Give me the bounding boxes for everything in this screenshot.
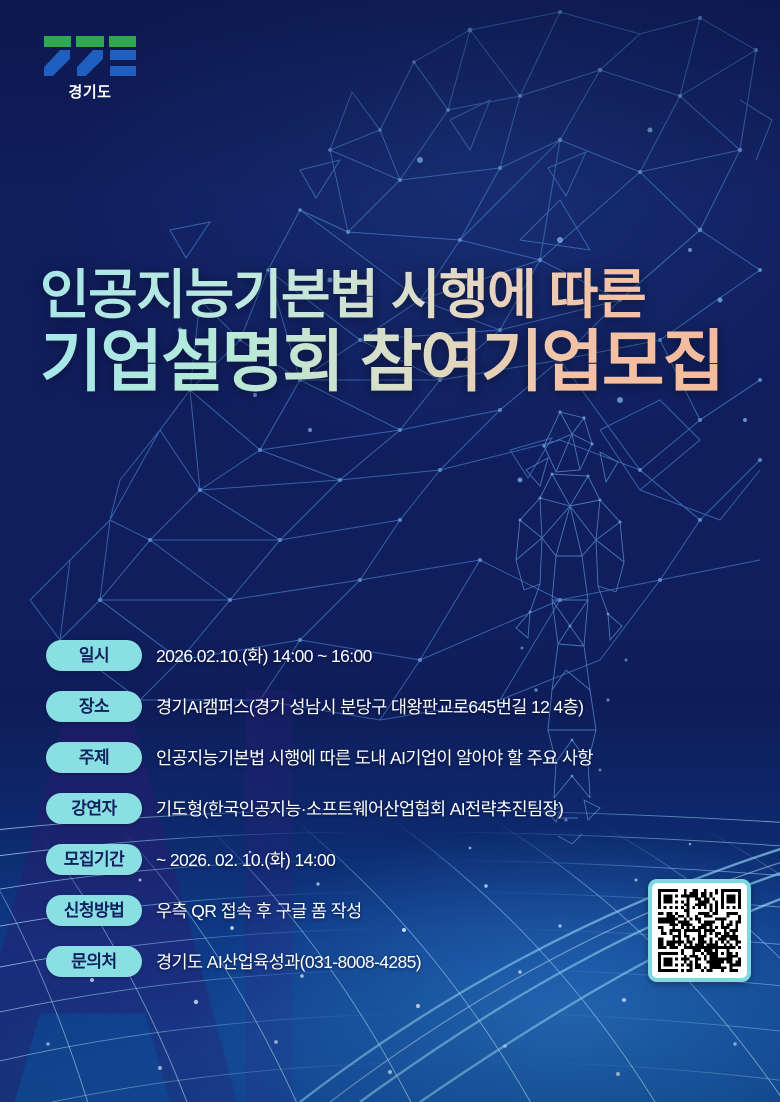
logo-blue-marks-icon — [44, 50, 136, 76]
info-value-ilsi: 2026.02.10.(화) 14:00 ~ 16:00 — [156, 643, 372, 668]
info-value-period: ~ 2026. 02. 10.(화) 14:00 — [156, 847, 335, 872]
info-label-ilsi: 일시 — [46, 640, 142, 671]
event-info-list: 일시 2026.02.10.(화) 14:00 ~ 16:00 장소 경기AI캠… — [46, 638, 726, 995]
poster-headline: 인공지능기본법 시행에 따른 기업설명회 참여기업모집 — [40, 268, 760, 396]
info-row: 강연자 기도형(한국인공지능·소프트웨어산업협회 AI전략추진팀장) — [46, 791, 726, 825]
gyeonggi-province-logo: 경기도 — [44, 36, 154, 102]
info-row: 문의처 경기도 AI산업육성과(031-8008-4285) — [46, 944, 726, 978]
info-row: 장소 경기AI캠퍼스(경기 성남시 분당구 대왕판교로645번길 12 4층) — [46, 689, 726, 723]
qr-code-icon — [658, 889, 741, 972]
info-value-speaker: 기도형(한국인공지능·소프트웨어산업협회 AI전략추진팀장) — [156, 796, 563, 821]
info-label-period: 모집기간 — [46, 844, 142, 875]
logo-label: 경기도 — [44, 81, 136, 102]
info-row: 모집기간 ~ 2026. 02. 10.(화) 14:00 — [46, 842, 726, 876]
info-label-juje: 주제 — [46, 742, 142, 773]
info-label-speaker: 강연자 — [46, 793, 142, 824]
info-row: 주제 인공지능기본법 시행에 따른 도내 AI기업이 알아야 할 주요 사항 — [46, 740, 726, 774]
info-label-jangso: 장소 — [46, 691, 142, 722]
logo-green-bars-icon — [44, 36, 136, 47]
info-row: 신청방법 우측 QR 접속 후 구글 폼 작성 — [46, 893, 726, 927]
info-value-apply-method: 우측 QR 접속 후 구글 폼 작성 — [156, 898, 362, 923]
info-value-jangso: 경기AI캠퍼스(경기 성남시 분당구 대왕판교로645번길 12 4층) — [156, 694, 583, 719]
info-value-juje: 인공지능기본법 시행에 따른 도내 AI기업이 알아야 할 주요 사항 — [156, 745, 593, 770]
info-label-contact: 문의처 — [46, 946, 142, 977]
qr-code[interactable] — [648, 879, 751, 982]
info-row: 일시 2026.02.10.(화) 14:00 ~ 16:00 — [46, 638, 726, 672]
headline-line-1: 인공지능기본법 시행에 따른 — [40, 268, 760, 322]
headline-line-2: 기업설명회 참여기업모집 — [40, 328, 760, 396]
info-label-apply-method: 신청방법 — [46, 895, 142, 926]
info-value-contact: 경기도 AI산업육성과(031-8008-4285) — [156, 949, 421, 974]
poster-root: 경기도 인공지능기본법 시행에 따른 기업설명회 참여기업모집 일시 2026.… — [0, 0, 780, 1102]
